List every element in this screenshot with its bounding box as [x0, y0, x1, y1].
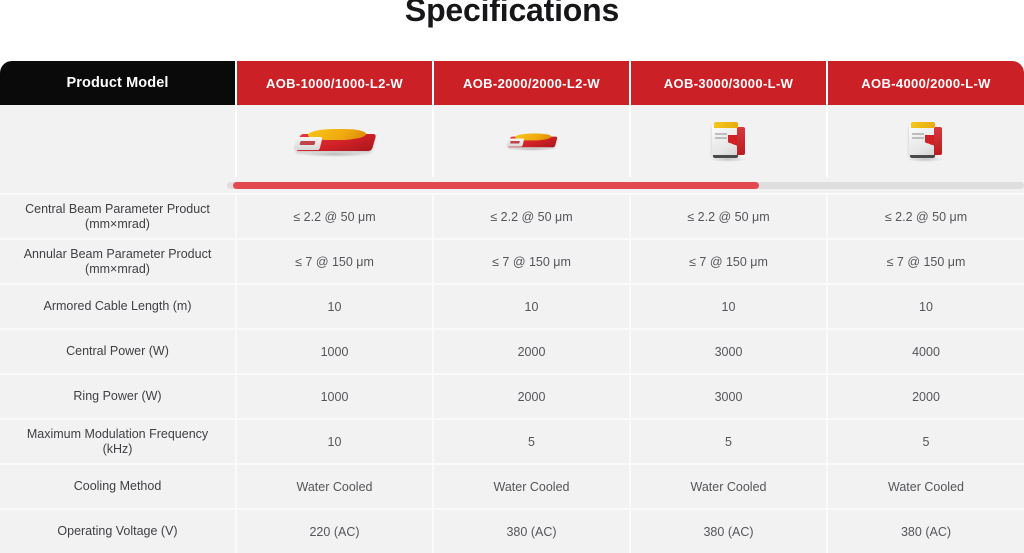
table-row: Operating Voltage (V)220 (AC)380 (AC)380… — [0, 508, 1024, 553]
product-image-label-spacer — [0, 105, 235, 177]
header-model-4: AOB-4000/2000-L-W — [826, 61, 1024, 105]
product-image-cell-2 — [432, 105, 629, 177]
product-image-row — [0, 105, 1024, 177]
row-label: Maximum Modulation Frequency(kHz) — [0, 420, 235, 463]
cell-value: 2000 — [826, 375, 1024, 418]
cell-value: ≤ 2.2 @ 50 μm — [826, 195, 1024, 238]
header-product-model: Product Model — [0, 61, 235, 105]
cell-value: 220 (AC) — [235, 510, 432, 553]
specifications-table: Product Model AOB-1000/1000-L2-W AOB-200… — [0, 61, 1024, 553]
table-row: Ring Power (W)1000200030002000 — [0, 373, 1024, 418]
cell-value: 2000 — [432, 330, 629, 373]
cell-value: 380 (AC) — [629, 510, 826, 553]
cell-value: ≤ 2.2 @ 50 μm — [235, 195, 432, 238]
row-label: Central Power (W) — [0, 330, 235, 373]
page-title: Specifications — [0, 0, 1024, 30]
row-label: Operating Voltage (V) — [0, 510, 235, 553]
cell-value: 5 — [629, 420, 826, 463]
scrollbar-spacer — [0, 177, 227, 193]
cell-value: 10 — [826, 285, 1024, 328]
product-image-3 — [683, 115, 775, 167]
cell-value: 1000 — [235, 330, 432, 373]
cell-value: Water Cooled — [826, 465, 1024, 508]
table-body: Central Beam Parameter Product(mm×mrad)≤… — [0, 193, 1024, 553]
product-image-cell-1 — [235, 105, 432, 177]
cell-value: 10 — [432, 285, 629, 328]
scrollbar-thumb[interactable] — [233, 182, 759, 189]
product-image-2 — [486, 115, 578, 167]
cell-value: 3000 — [629, 330, 826, 373]
table-row: Annular Beam Parameter Product(mm×mrad)≤… — [0, 238, 1024, 283]
cell-value: ≤ 7 @ 150 μm — [432, 240, 629, 283]
specifications-page: Specifications Product Model AOB-1000/10… — [0, 0, 1024, 553]
cell-value: Water Cooled — [629, 465, 826, 508]
cell-value: 5 — [826, 420, 1024, 463]
row-label-text: Armored Cable Length (m) — [44, 299, 192, 313]
row-label-text: Central Beam Parameter Product — [25, 202, 210, 216]
cell-value: ≤ 7 @ 150 μm — [629, 240, 826, 283]
row-label: Ring Power (W) — [0, 375, 235, 418]
table-row: Maximum Modulation Frequency(kHz)10555 — [0, 418, 1024, 463]
header-model-2: AOB-2000/2000-L2-W — [432, 61, 629, 105]
cell-value: 5 — [432, 420, 629, 463]
scrollbar-track[interactable] — [227, 177, 1024, 193]
row-label-unit: (mm×mrad) — [25, 217, 210, 232]
row-label-text: Ring Power (W) — [73, 389, 161, 403]
row-label: Cooling Method — [0, 465, 235, 508]
table-header-row: Product Model AOB-1000/1000-L2-W AOB-200… — [0, 61, 1024, 105]
table-row: Central Power (W)1000200030004000 — [0, 328, 1024, 373]
product-image-cell-3 — [629, 105, 826, 177]
product-image-4 — [880, 115, 972, 167]
table-row: Cooling MethodWater CooledWater CooledWa… — [0, 463, 1024, 508]
cell-value: 2000 — [432, 375, 629, 418]
cell-value: 10 — [235, 420, 432, 463]
row-label-unit: (kHz) — [27, 442, 208, 457]
row-label-text: Maximum Modulation Frequency — [27, 427, 208, 441]
cell-value: ≤ 7 @ 150 μm — [826, 240, 1024, 283]
product-image-cell-4 — [826, 105, 1024, 177]
cell-value: 1000 — [235, 375, 432, 418]
cell-value: ≤ 2.2 @ 50 μm — [629, 195, 826, 238]
cell-value: 4000 — [826, 330, 1024, 373]
row-label: Annular Beam Parameter Product(mm×mrad) — [0, 240, 235, 283]
header-model-3: AOB-3000/3000-L-W — [629, 61, 826, 105]
row-label-text: Central Power (W) — [66, 344, 169, 358]
cell-value: ≤ 7 @ 150 μm — [235, 240, 432, 283]
horizontal-scrollbar[interactable] — [0, 177, 1024, 193]
table-row: Central Beam Parameter Product(mm×mrad)≤… — [0, 193, 1024, 238]
product-image-1 — [289, 115, 381, 167]
cell-value: Water Cooled — [432, 465, 629, 508]
row-label: Armored Cable Length (m) — [0, 285, 235, 328]
cell-value: ≤ 2.2 @ 50 μm — [432, 195, 629, 238]
row-label-text: Annular Beam Parameter Product — [24, 247, 212, 261]
row-label-text: Operating Voltage (V) — [57, 524, 177, 538]
cell-value: 10 — [629, 285, 826, 328]
cell-value: 380 (AC) — [432, 510, 629, 553]
cell-value: 380 (AC) — [826, 510, 1024, 553]
header-model-1: AOB-1000/1000-L2-W — [235, 61, 432, 105]
row-label: Central Beam Parameter Product(mm×mrad) — [0, 195, 235, 238]
cell-value: 10 — [235, 285, 432, 328]
row-label-unit: (mm×mrad) — [24, 262, 212, 277]
cell-value: Water Cooled — [235, 465, 432, 508]
row-label-text: Cooling Method — [74, 479, 162, 493]
table-row: Armored Cable Length (m)10101010 — [0, 283, 1024, 328]
cell-value: 3000 — [629, 375, 826, 418]
